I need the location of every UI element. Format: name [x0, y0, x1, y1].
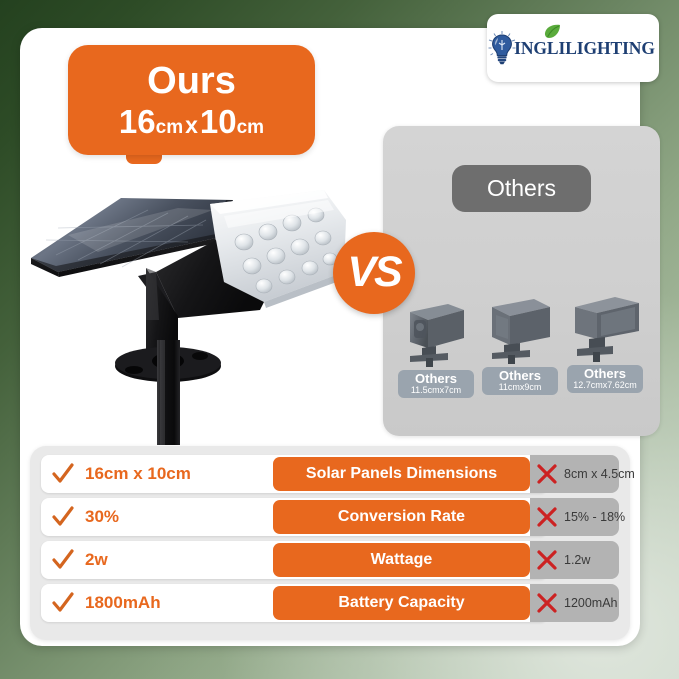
table-row: 1800mAh 1200mAh Battery Capacity: [30, 584, 630, 622]
ours-width-number: 16: [119, 103, 156, 140]
check-mark-icon: [51, 505, 75, 529]
ours-height-number: 10: [200, 103, 237, 140]
competitor-light-illustration: [398, 296, 474, 368]
other-value: 1200mAh: [564, 596, 618, 610]
competitor-name: Others: [567, 367, 643, 381]
cross-mark-icon: [536, 592, 558, 614]
competitor-light-illustration: [567, 291, 643, 363]
infographic-canvas: Others: [0, 0, 679, 679]
feature-label-cell: Wattage: [273, 543, 530, 577]
ours-product-image: [28, 180, 358, 445]
competitor-light-illustration: [482, 293, 558, 365]
other-cell: 1200mAh: [530, 584, 619, 622]
cross-mark-icon: [536, 549, 558, 571]
feature-label-cell: Conversion Rate: [273, 500, 530, 534]
ours-width-unit: cm: [156, 117, 183, 138]
competitor-name: Others: [398, 372, 474, 386]
ours-value: 2w: [85, 550, 108, 570]
brand-name: INGLILIGHTING: [514, 38, 655, 59]
competitor-item-3: Others 12.7cmx7.62cm: [567, 291, 643, 393]
table-row: 30% 15% - 18% Conversion Rate: [30, 498, 630, 536]
competitor-item-2: Others 11cmx9cm: [482, 293, 558, 395]
other-cell: 15% - 18%: [530, 498, 619, 536]
check-mark-icon: [51, 548, 75, 572]
table-row: 2w 1.2w Wattage: [30, 541, 630, 579]
cross-mark-icon: [536, 463, 558, 485]
feature-label: Wattage: [371, 551, 433, 569]
solar-spotlight-illustration: [28, 180, 358, 445]
feature-label: Conversion Rate: [338, 508, 465, 526]
feature-label: Battery Capacity: [338, 594, 464, 612]
brand-logo-card: INGLILIGHTING: [487, 14, 659, 82]
versus-label: VS: [347, 251, 400, 294]
leaf-icon: [544, 24, 561, 39]
other-cell: 8cm x 4.5cm: [530, 455, 619, 493]
other-value: 1.2w: [564, 553, 590, 567]
check-mark-icon: [51, 462, 75, 486]
versus-badge: VS: [333, 232, 415, 314]
ours-value: 30%: [85, 507, 119, 527]
feature-label: Solar Panels Dimensions: [306, 465, 497, 483]
feature-label-cell: Battery Capacity: [273, 586, 530, 620]
others-badge: Others: [452, 165, 591, 212]
light-bulb-icon: [487, 31, 517, 65]
other-value: 15% - 18%: [564, 510, 625, 524]
other-value: 8cm x 4.5cm: [564, 467, 635, 481]
competitor-label-2: Others 11cmx9cm: [482, 367, 558, 395]
competitor-dimensions: 11.5cmx7cm: [398, 386, 474, 395]
competitor-label-3: Others 12.7cmx7.62cm: [567, 365, 643, 393]
others-panel: Others: [383, 126, 660, 436]
ours-dimensions: 16cmx10cm: [119, 105, 264, 138]
other-cell: 1.2w: [530, 541, 619, 579]
ours-value: 1800mAh: [85, 593, 161, 613]
competitor-dimensions: 11cmx9cm: [482, 383, 558, 392]
competitor-dimensions: 12.7cmx7.62cm: [567, 381, 643, 390]
cross-mark-icon: [536, 506, 558, 528]
ours-value: 16cm x 10cm: [85, 464, 191, 484]
feature-label-cell: Solar Panels Dimensions: [273, 457, 530, 491]
ours-badge: Ours 16cmx10cm: [68, 45, 315, 155]
ours-title: Ours: [147, 62, 236, 100]
table-row: 16cm x 10cm 8cm x 4.5cm Solar Panels Dim…: [30, 455, 630, 493]
competitor-name: Others: [482, 369, 558, 383]
others-badge-label: Others: [487, 175, 556, 202]
comparison-table: 16cm x 10cm 8cm x 4.5cm Solar Panels Dim…: [30, 446, 630, 640]
competitor-item-1: Others 11.5cmx7cm: [398, 296, 474, 398]
competitor-label-1: Others 11.5cmx7cm: [398, 370, 474, 398]
check-mark-icon: [51, 591, 75, 615]
ours-height-unit: cm: [237, 117, 264, 138]
ours-dimension-separator: x: [185, 112, 198, 138]
